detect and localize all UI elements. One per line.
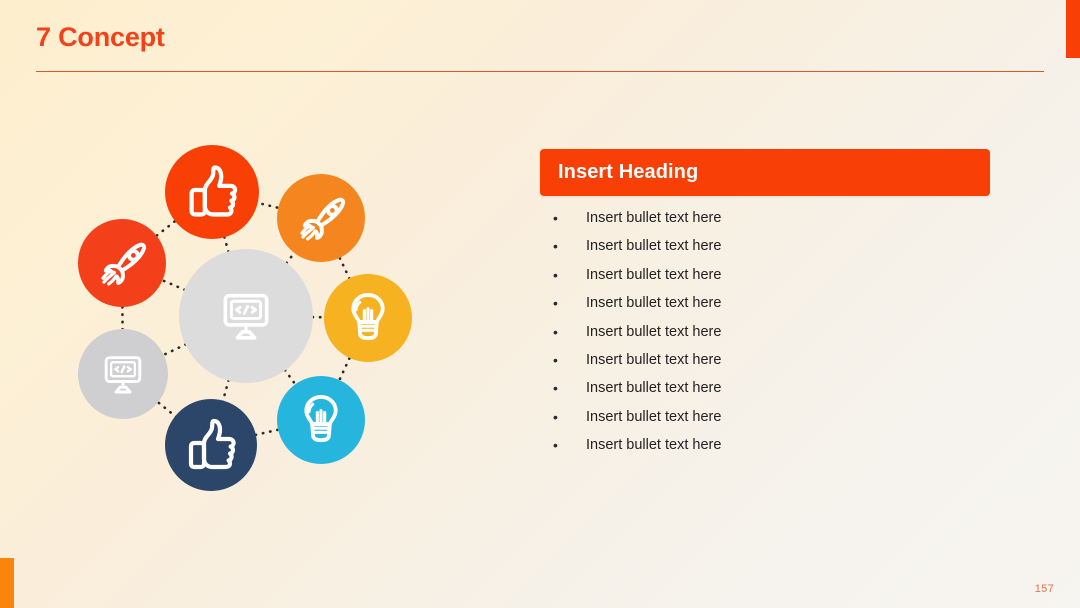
list-item[interactable]: •Insert bullet text here bbox=[553, 236, 983, 264]
diagram-node-rocket-orange[interactable] bbox=[277, 174, 365, 262]
diagram-node-thumbs-up-navy[interactable] bbox=[165, 399, 257, 491]
insert-heading-label: Insert Heading bbox=[558, 149, 698, 196]
bullet-marker: • bbox=[553, 350, 586, 370]
bullet-marker: • bbox=[553, 322, 586, 342]
list-item[interactable]: •Insert bullet text here bbox=[553, 293, 983, 321]
list-item[interactable]: •Insert bullet text here bbox=[553, 407, 983, 435]
top-right-accent-bar bbox=[1066, 0, 1080, 58]
bullet-marker: • bbox=[553, 407, 586, 427]
list-item[interactable]: •Insert bullet text here bbox=[553, 350, 983, 378]
list-item[interactable]: •Insert bullet text here bbox=[553, 435, 983, 463]
bullet-label: Insert bullet text here bbox=[586, 378, 721, 398]
list-item[interactable]: •Insert bullet text here bbox=[553, 322, 983, 350]
bullet-label: Insert bullet text here bbox=[586, 208, 721, 228]
concept-diagram bbox=[60, 140, 440, 510]
diagram-node-rocket-red[interactable] bbox=[78, 219, 166, 307]
bullet-label: Insert bullet text here bbox=[586, 435, 721, 455]
bottom-left-accent-bar bbox=[0, 558, 14, 608]
bullet-marker: • bbox=[553, 435, 586, 455]
bullet-label: Insert bullet text here bbox=[586, 265, 721, 285]
bullet-label: Insert bullet text here bbox=[586, 293, 721, 313]
diagram-node-monitor-gray[interactable] bbox=[78, 329, 168, 419]
diagram-node-hub[interactable] bbox=[179, 249, 313, 383]
page-number: 157 bbox=[1035, 583, 1054, 595]
bullet-label: Insert bullet text here bbox=[586, 236, 721, 256]
bullet-label: Insert bullet text here bbox=[586, 322, 721, 342]
diagram-node-thumbs-up-red[interactable] bbox=[165, 145, 259, 239]
list-item[interactable]: •Insert bullet text here bbox=[553, 378, 983, 406]
list-item[interactable]: •Insert bullet text here bbox=[553, 208, 983, 236]
bullet-label: Insert bullet text here bbox=[586, 350, 721, 370]
bullet-marker: • bbox=[553, 378, 586, 398]
bullet-list: •Insert bullet text here•Insert bullet t… bbox=[553, 208, 983, 464]
bullet-marker: • bbox=[553, 265, 586, 285]
diagram-node-bulb-cyan[interactable] bbox=[277, 376, 365, 464]
insert-heading-box[interactable]: Insert Heading bbox=[540, 149, 990, 196]
slide-canvas: 7 Concept bbox=[0, 0, 1080, 608]
bullet-marker: • bbox=[553, 236, 586, 256]
page-title: 7 Concept bbox=[36, 22, 165, 53]
diagram-node-bulb-yellow[interactable] bbox=[324, 274, 412, 362]
title-divider bbox=[36, 71, 1044, 72]
list-item[interactable]: •Insert bullet text here bbox=[553, 265, 983, 293]
bullet-label: Insert bullet text here bbox=[586, 407, 721, 427]
bullet-marker: • bbox=[553, 293, 586, 313]
bullet-marker: • bbox=[553, 208, 586, 228]
